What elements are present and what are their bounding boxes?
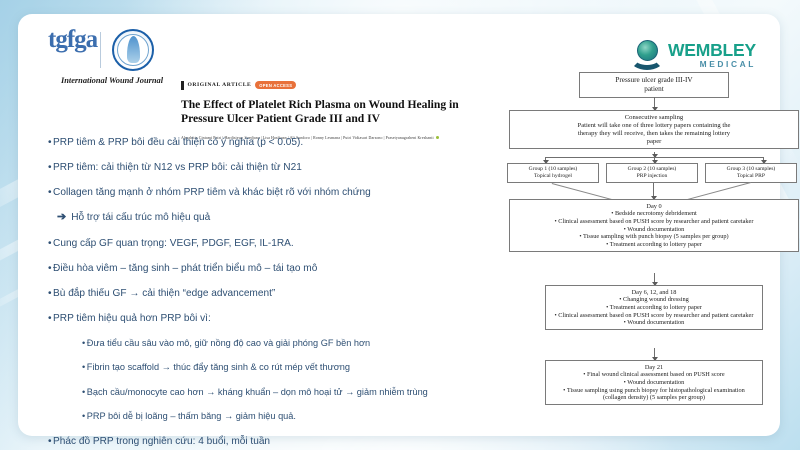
wound-journal-seal-icon: [112, 29, 154, 71]
bullet-text: Bạch cầu/monocyte cao hơn → kháng khuẩn …: [87, 386, 428, 399]
flowchart-box-line: therapy they will receive, then takes th…: [514, 130, 794, 138]
kicker-bar-icon: [181, 81, 184, 90]
connector-patient-to-sampling: [654, 97, 655, 110]
bullet-icon: •: [48, 287, 52, 300]
bullet-text: Collagen tăng mạnh ở nhóm PRP tiêm và kh…: [53, 186, 371, 199]
bullet-text: Phác đồ PRP trong nghiên cứu: 4 buổi, mỗ…: [53, 435, 270, 448]
flowchart-box-day21: Day 21• Final wound clinical assessment …: [545, 360, 763, 405]
wembley-globe-shape: [637, 40, 658, 61]
journal-header: tgfga International Wound Journal ORIGIN…: [34, 26, 504, 144]
flowchart-box-group-3: Group 3 (10 samples)Topical PRP: [705, 163, 797, 183]
bullet-icon: •: [48, 237, 52, 250]
bullet-item: •PRP tiêm hiệu quả hơn PRP bôi vì:: [48, 312, 468, 325]
kicker-label: ORIGINAL ARTICLE: [188, 82, 252, 88]
bullet-item: •Điều hòa viêm – tăng sinh – phát triển …: [48, 262, 468, 275]
flowchart-box-line: • Bedside necrotomy debridement: [515, 210, 793, 218]
bullet-text: PRP tiêm: cải thiện từ N12 vs PRP bôi: c…: [53, 161, 302, 174]
flowchart-box-line: Patient will take one of three lottery p…: [514, 122, 794, 130]
bullet-item: •Bù đắp thiếu GF → cải thiện “edge advan…: [48, 287, 468, 300]
open-access-badge: OPEN ACCESS: [255, 81, 296, 89]
bullet-list: •PRP tiêm & PRP bôi đều cải thiện có ý n…: [48, 136, 468, 450]
bullet-text: Điều hòa viêm – tăng sinh – phát triển b…: [53, 262, 317, 275]
bullet-item: •Cung cấp GF quan trọng: VEGF, PDGF, EGF…: [48, 237, 468, 250]
slide-canvas: tgfga International Wound Journal ORIGIN…: [0, 0, 800, 450]
bullet-icon: •: [48, 312, 52, 325]
bullet-icon: •: [82, 361, 85, 374]
flowchart-box-title: Day 0: [515, 203, 793, 211]
bullet-item: •Collagen tăng mạnh ở nhóm PRP tiêm và k…: [48, 186, 468, 199]
flowchart-box-group-2: Group 2 (10 samples)PRP injection: [606, 163, 698, 183]
bullet-icon: •: [82, 337, 85, 350]
bullet-text: Cung cấp GF quan trọng: VEGF, PDGF, EGF,…: [53, 237, 294, 250]
bullet-item: •Đưa tiểu cầu sâu vào mô, giữ nồng độ ca…: [82, 337, 468, 350]
flowchart-box-line: Pressure ulcer grade III-IV: [582, 76, 726, 85]
journal-name: International Wound Journal: [42, 76, 182, 85]
flowchart-box-sampling: Consecutive samplingPatient will take on…: [509, 110, 799, 149]
flowchart-box-line: • Wound documentation: [551, 379, 757, 387]
bullet-text: Đưa tiểu cầu sâu vào mô, giữ nồng độ cao…: [87, 337, 370, 350]
bullet-icon: •: [82, 386, 85, 399]
connector-day6-to-day21: [654, 348, 655, 360]
connector-group2-to-day0: [653, 183, 654, 199]
bullet-item: •Bạch cầu/monocyte cao hơn → kháng khuẩn…: [82, 386, 468, 399]
flowchart-box-line: • Wound documentation: [551, 319, 757, 327]
bullet-text: PRP tiêm hiệu quả hơn PRP bôi vì:: [53, 312, 211, 325]
flowchart-box-line: • Wound documentation: [515, 226, 793, 234]
flowchart-box-day6-12-18: Day 6, 12, and 18• Changing wound dressi…: [545, 285, 763, 330]
flowchart-box-line: • Clinical assessment based on PUSH scor…: [551, 312, 757, 320]
flowchart-box-title: Day 21: [551, 364, 757, 372]
bullet-item: •PRP tiêm: cải thiện từ N12 vs PRP bôi: …: [48, 161, 468, 174]
flowchart-box-line: • Treatment according to lottery paper: [515, 241, 793, 249]
flowchart-box-line: • Tissue sampling with punch biopsy (5 s…: [515, 233, 793, 241]
flowchart-box-title: Group 1 (10 samples): [509, 166, 597, 173]
flowchart-box-line: • Final wound clinical assessment based …: [551, 371, 757, 379]
flowchart-box-day0: Day 0• Bedside necrotomy debridement• Cl…: [509, 199, 799, 252]
article-block: ORIGINAL ARTICLE OPEN ACCESS The Effect …: [181, 80, 501, 144]
bullet-text: PRP tiêm & PRP bôi đều cải thiện có ý ng…: [53, 136, 303, 149]
bullet-item: •PRP tiêm & PRP bôi đều cải thiện có ý n…: [48, 136, 468, 149]
wembley-medical-logo: WEMBLEY MEDICAL: [630, 40, 756, 70]
flowchart-box-line: PRP injection: [608, 173, 696, 180]
bullet-item: •Phác đồ PRP trong nghiên cứu: 4 buổi, m…: [48, 435, 468, 448]
bullet-icon: •: [48, 136, 52, 149]
flowchart-box-group-1: Group 1 (10 samples)Topical hydrogel: [507, 163, 599, 183]
bullet-item: ➔Hỗ trợ tái cấu trúc mô hiệu quả: [57, 211, 468, 224]
flowchart-box-line: paper: [514, 138, 794, 146]
connector-day0-to-day6: [654, 273, 655, 285]
content-card: tgfga International Wound Journal ORIGIN…: [18, 14, 780, 436]
bullet-icon: •: [48, 161, 52, 174]
flowchart-box-line: Topical hydrogel: [509, 173, 597, 180]
bullet-icon: •: [48, 186, 52, 199]
wembley-wordmark: WEMBLEY MEDICAL: [668, 42, 756, 69]
bullet-text: Hỗ trợ tái cấu trúc mô hiệu quả: [71, 211, 210, 224]
flowchart-box-line: • Treatment according to lottery paper: [551, 304, 757, 312]
wembley-globe-icon: [630, 40, 664, 70]
article-kicker: ORIGINAL ARTICLE OPEN ACCESS: [181, 80, 501, 90]
bullet-text: Fibrin tạo scaffold → thúc đẩy tăng sinh…: [87, 361, 350, 374]
flowchart-box-title: Day 6, 12, and 18: [551, 289, 757, 297]
bullet-icon: •: [82, 410, 85, 423]
flowchart-box-title: Consecutive sampling: [514, 114, 794, 122]
tgfga-logo-icon: tgfga: [48, 30, 92, 70]
flowchart-box-line: Topical PRP: [707, 173, 795, 180]
article-title: The Effect of Platelet Rich Plasma on Wo…: [181, 98, 493, 126]
flowchart-box-title: Group 2 (10 samples): [608, 166, 696, 173]
flowchart-box-line: patient: [582, 85, 726, 94]
arrow-icon: ➔: [57, 211, 66, 224]
brand-subtitle: MEDICAL: [668, 60, 756, 68]
bullet-item: •Fibrin tạo scaffold → thúc đẩy tăng sin…: [82, 361, 468, 374]
flowchart-box-line: • Changing wound dressing: [551, 296, 757, 304]
flowchart-box-title: Group 3 (10 samples): [707, 166, 795, 173]
journal-logo-group: tgfga International Wound Journal: [42, 28, 172, 98]
study-flowchart: Pressure ulcer grade III-IVpatient Conse…: [505, 72, 793, 440]
logo-divider: [100, 32, 101, 68]
bullet-text: PRP bôi dễ bị loãng – thấm băng → giảm h…: [87, 410, 296, 423]
bullet-text: Bù đắp thiếu GF → cải thiện “edge advanc…: [53, 287, 275, 300]
bullet-icon: •: [48, 435, 52, 448]
flowchart-box-line: • Clinical assessment based on PUSH scor…: [515, 218, 793, 226]
flowchart-box-patient: Pressure ulcer grade III-IVpatient: [579, 72, 729, 98]
bullet-item: •PRP bôi dễ bị loãng – thấm băng → giảm …: [82, 410, 468, 423]
brand-name: WEMBLEY: [668, 42, 756, 60]
bullet-icon: •: [48, 262, 52, 275]
flowchart-box-line: • Tissue sampling using punch biopsy for…: [551, 387, 757, 402]
